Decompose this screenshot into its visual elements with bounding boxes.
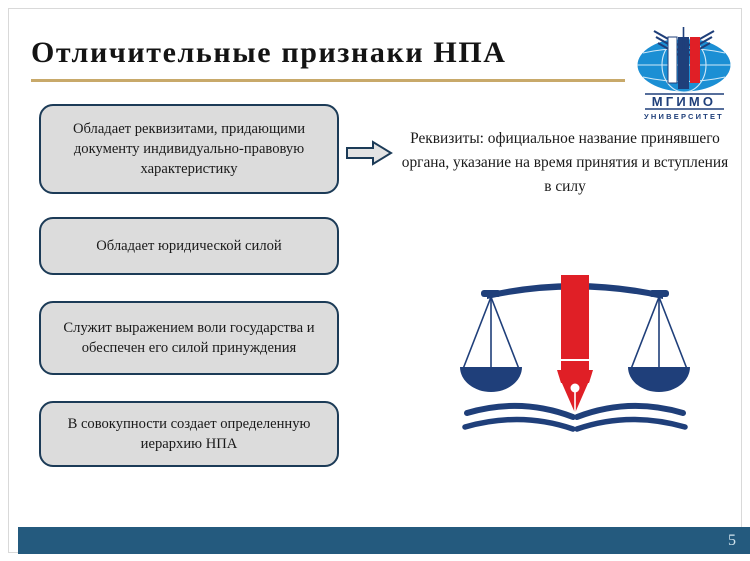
right-arrow-icon bbox=[345, 140, 393, 166]
mgimo-logo: МГИМО УНИВЕРСИТЕТ bbox=[625, 21, 743, 121]
feature-box-label: Обладает реквизитами, придающими докумен… bbox=[51, 119, 327, 179]
feature-box-label: Служит выражением воли государства и обе… bbox=[51, 318, 327, 358]
feature-box: Обладает юридической силой bbox=[39, 217, 339, 275]
annotation-text: Реквизиты: официальное название принявше… bbox=[397, 127, 733, 199]
footer-bar: 5 bbox=[18, 527, 750, 554]
page-number: 5 bbox=[728, 530, 736, 551]
page-title: Отличительные признаки НПА bbox=[31, 29, 621, 77]
scales-of-justice-illustration bbox=[457, 257, 693, 442]
feature-box-label: Обладает юридической силой bbox=[96, 236, 281, 256]
feature-box-label: В совокупности создает определенную иера… bbox=[51, 414, 327, 454]
feature-box: Обладает реквизитами, придающими докумен… bbox=[39, 104, 339, 194]
feature-box: Служит выражением воли государства и обе… bbox=[39, 301, 339, 375]
logo-name-text: МГИМО bbox=[652, 94, 716, 109]
logo-subtitle-text: УНИВЕРСИТЕТ bbox=[644, 112, 724, 121]
feature-box: В совокупности создает определенную иера… bbox=[39, 401, 339, 467]
title-underline-rule bbox=[31, 79, 625, 82]
slide-canvas: Отличительные признаки НПА bbox=[8, 8, 742, 553]
